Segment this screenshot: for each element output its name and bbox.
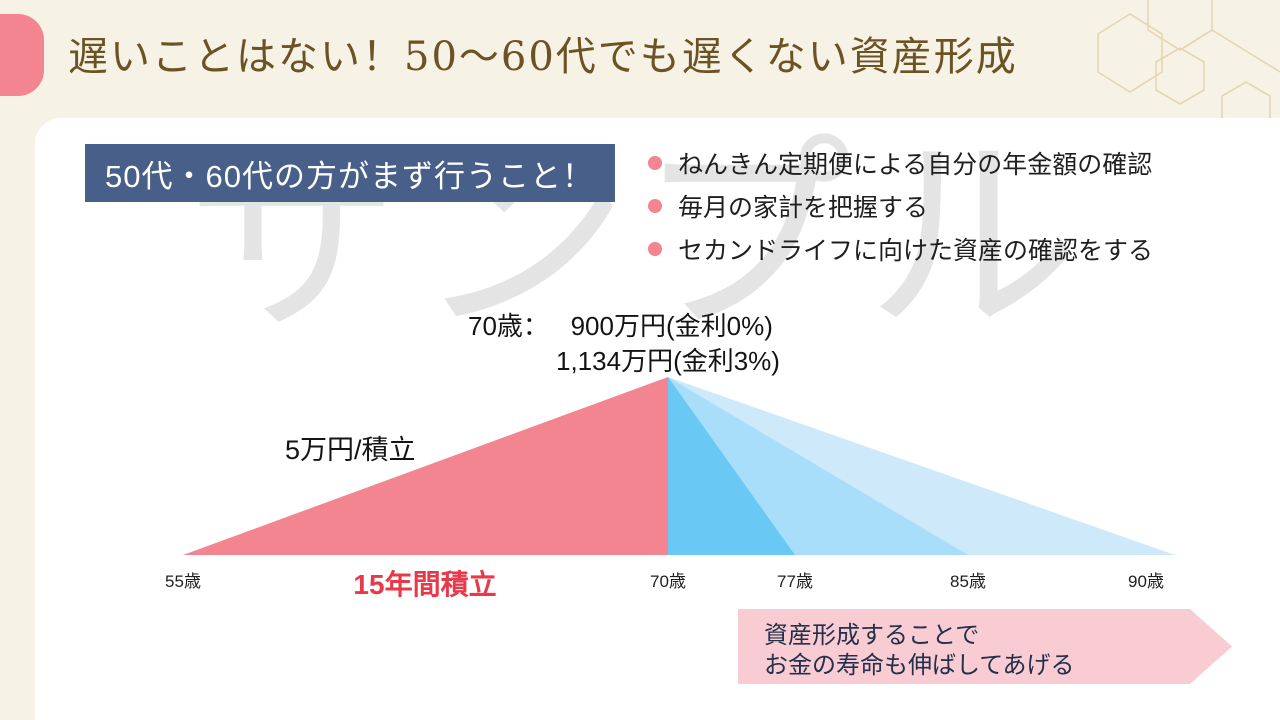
accumulation-period-label: 15年間積立 — [353, 563, 496, 603]
section-banner-label: 50代・60代の方がまず行うこと！ — [85, 151, 594, 196]
chart-annotation-peak-age: 70歳： — [468, 311, 549, 341]
bullet-dot-icon — [648, 199, 662, 213]
slide: 遅いことはない！50〜60代でも遅くない資産形成 サンプル 50代・60代の方が… — [0, 0, 1280, 720]
axis-label-77: 77歳 — [777, 567, 813, 592]
list-item: セカンドライフに向けた資産の確認をする — [648, 227, 1248, 270]
list-item: 毎月の家計を把握する — [648, 184, 1248, 227]
chart-annotation-peak-0pct: 70歳： 900万円(金利0%) — [468, 306, 773, 343]
axis-label-90: 90歳 — [1128, 567, 1164, 592]
list-item-label: セカンドライフに向けた資産の確認をする — [678, 231, 1153, 267]
list-item-label: 毎月の家計を把握する — [678, 188, 928, 224]
axis-label-55: 55歳 — [165, 567, 201, 592]
chart-annotation-value-3pct: 1,134万円(金利3%) — [556, 341, 780, 378]
bullet-dot-icon — [648, 156, 662, 170]
axis-label-85: 85歳 — [950, 567, 986, 592]
checklist: ねんきん定期便による自分の年金額の確認 毎月の家計を把握する セカンドライフに向… — [648, 141, 1248, 270]
chart-annotation-value-0pct: 900万円(金利0%) — [571, 311, 773, 341]
list-item-label: ねんきん定期便による自分の年金額の確認 — [678, 145, 1152, 181]
page-title: 遅いことはない！50〜60代でも遅くない資産形成 — [68, 26, 1168, 88]
callout-arrow: 資産形成することで お金の寿命も伸ばしてあげる — [738, 609, 1232, 684]
axis-label-70: 70歳 — [650, 567, 686, 592]
section-banner: 50代・60代の方がまず行うこと！ — [85, 144, 615, 202]
chart-annotation-monthly: 5万円/積立 — [285, 428, 416, 467]
callout-label: 資産形成することで お金の寿命も伸ばしてあげる — [764, 621, 1075, 681]
header-accent-shape — [0, 14, 44, 96]
list-item: ねんきん定期便による自分の年金額の確認 — [648, 141, 1248, 184]
bullet-dot-icon — [648, 242, 662, 256]
slide-header: 遅いことはない！50〜60代でも遅くない資産形成 — [0, 0, 1280, 118]
